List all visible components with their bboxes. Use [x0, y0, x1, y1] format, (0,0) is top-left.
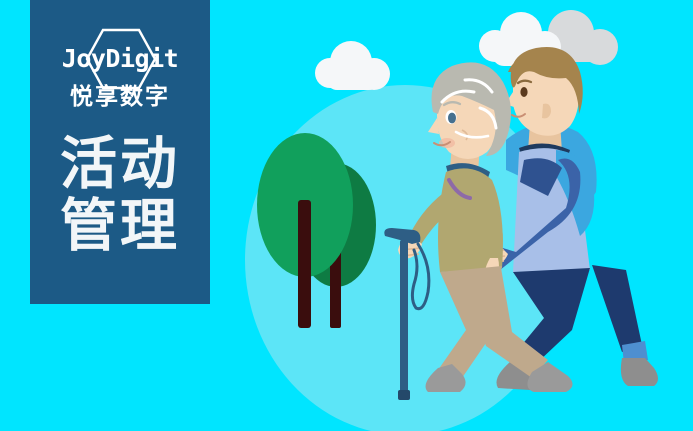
logo-chinese-name: 悦享数字 [30, 84, 210, 112]
brand-logo: JoyDigit 悦享数字 [30, 26, 210, 126]
woman-eye [448, 113, 456, 124]
man-eye [520, 87, 527, 97]
poster-canvas: JoyDigit 悦享数字 活动 管理 [0, 0, 693, 431]
page-title-line-1: 活动 [30, 134, 210, 196]
page-title: 活动 管理 [30, 134, 210, 257]
title-panel: JoyDigit 悦享数字 活动 管理 [30, 0, 210, 304]
page-title-line-2: 管理 [30, 196, 210, 258]
cane-tip [398, 390, 410, 400]
logo-wordmark: JoyDigit [30, 46, 210, 71]
cane-shaft [400, 240, 408, 398]
